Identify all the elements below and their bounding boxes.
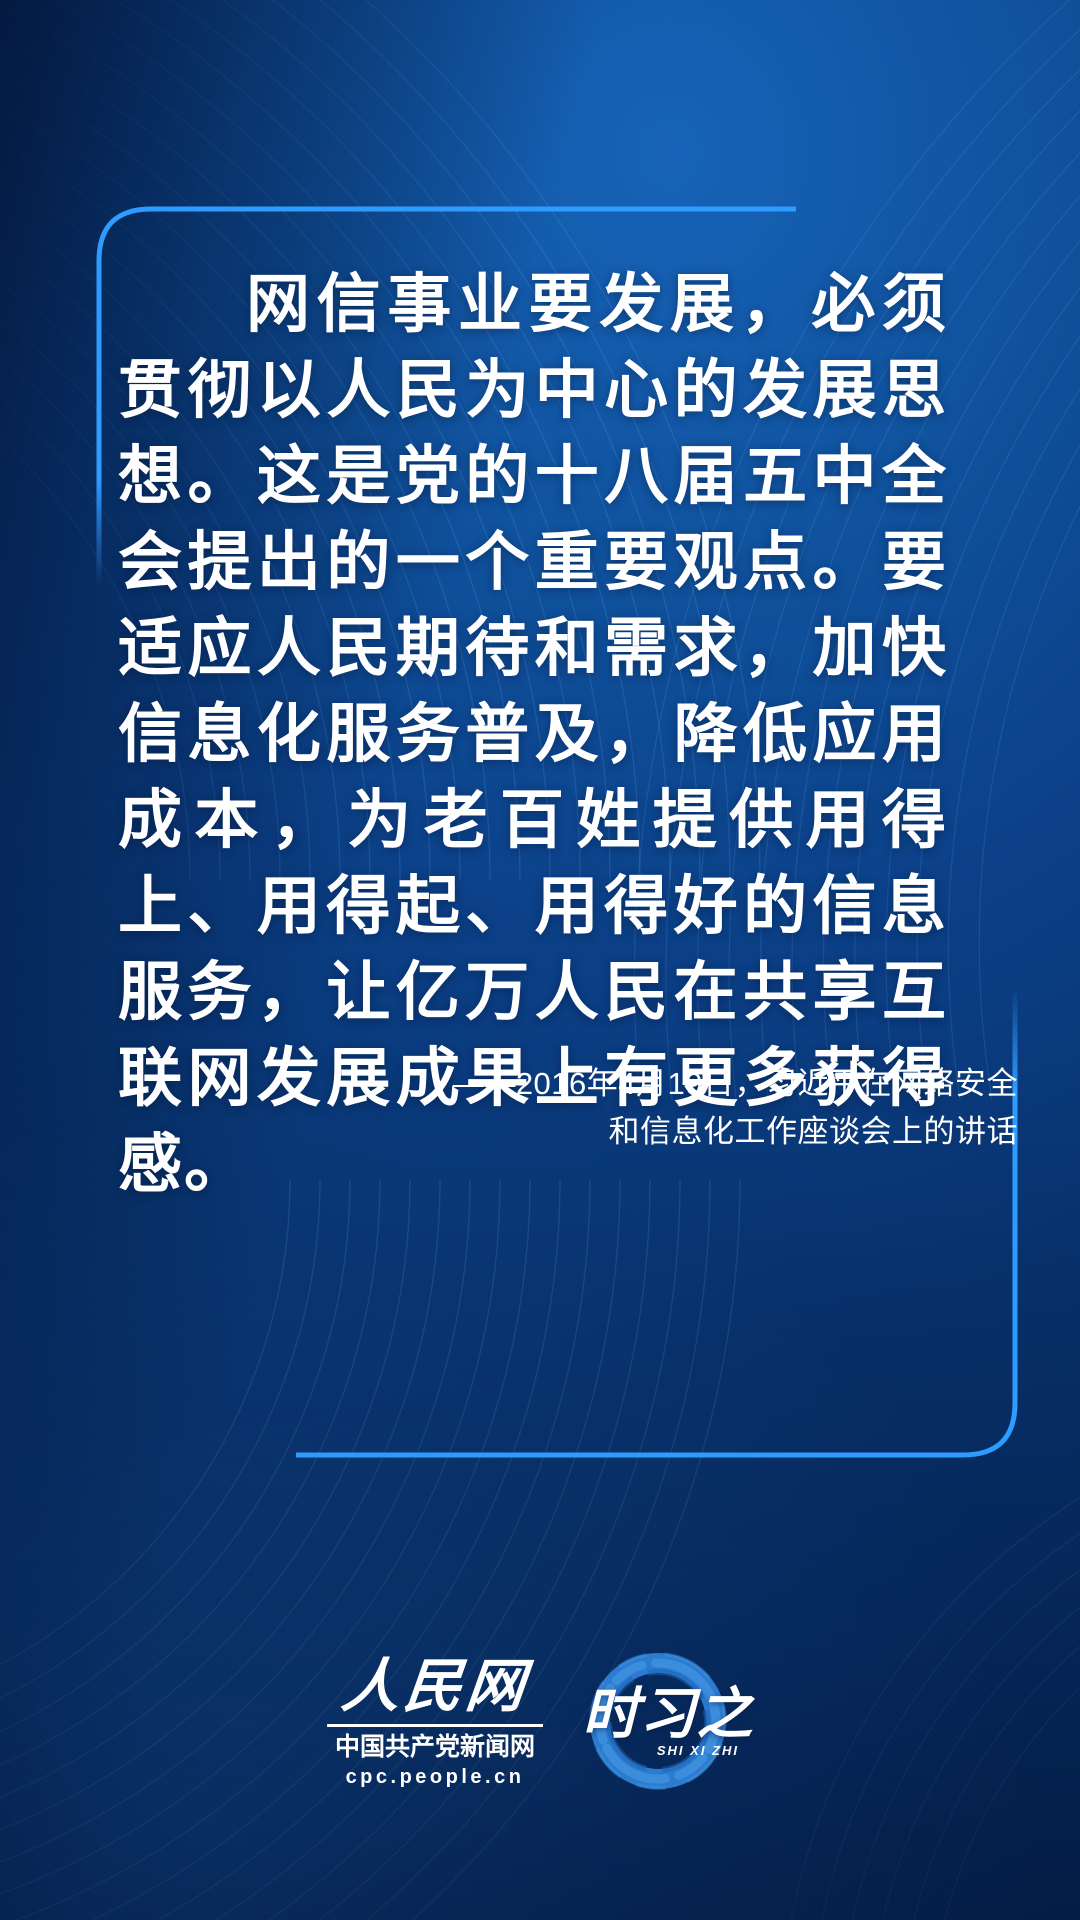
shixizhi-logo: 时习之 SHI XI ZHI: [575, 1638, 753, 1806]
people-cn-logo: 人民网 中国共产党新闻网 cpc.people.cn: [327, 1655, 543, 1790]
quote-attribution: ——2016年4月19日，习近平在网络安全 和信息化工作座谈会上的讲话: [178, 1060, 1018, 1156]
people-cn-url: cpc.people.cn: [346, 1764, 525, 1790]
poster-canvas: 网信事业要发展，必须贯彻以人民为中心的发展思想。这是党的十八届五中全会提出的一个…: [0, 0, 1080, 1920]
people-cn-subtitle: 中国共产党新闻网: [335, 1733, 535, 1762]
attribution-line-2: 和信息化工作座谈会上的讲话: [178, 1108, 1018, 1156]
people-cn-divider: [327, 1724, 543, 1727]
attribution-line-1: ——2016年4月19日，习近平在网络安全: [178, 1060, 1018, 1108]
shixizhi-pinyin: SHI XI ZHI: [657, 1743, 739, 1758]
people-cn-wordmark: 人民网: [339, 1655, 532, 1719]
shixizhi-wordmark: 时习之: [583, 1685, 754, 1743]
logo-row: 人民网 中国共产党新闻网 cpc.people.cn 时习之 SHI XI ZH…: [0, 1638, 1080, 1806]
